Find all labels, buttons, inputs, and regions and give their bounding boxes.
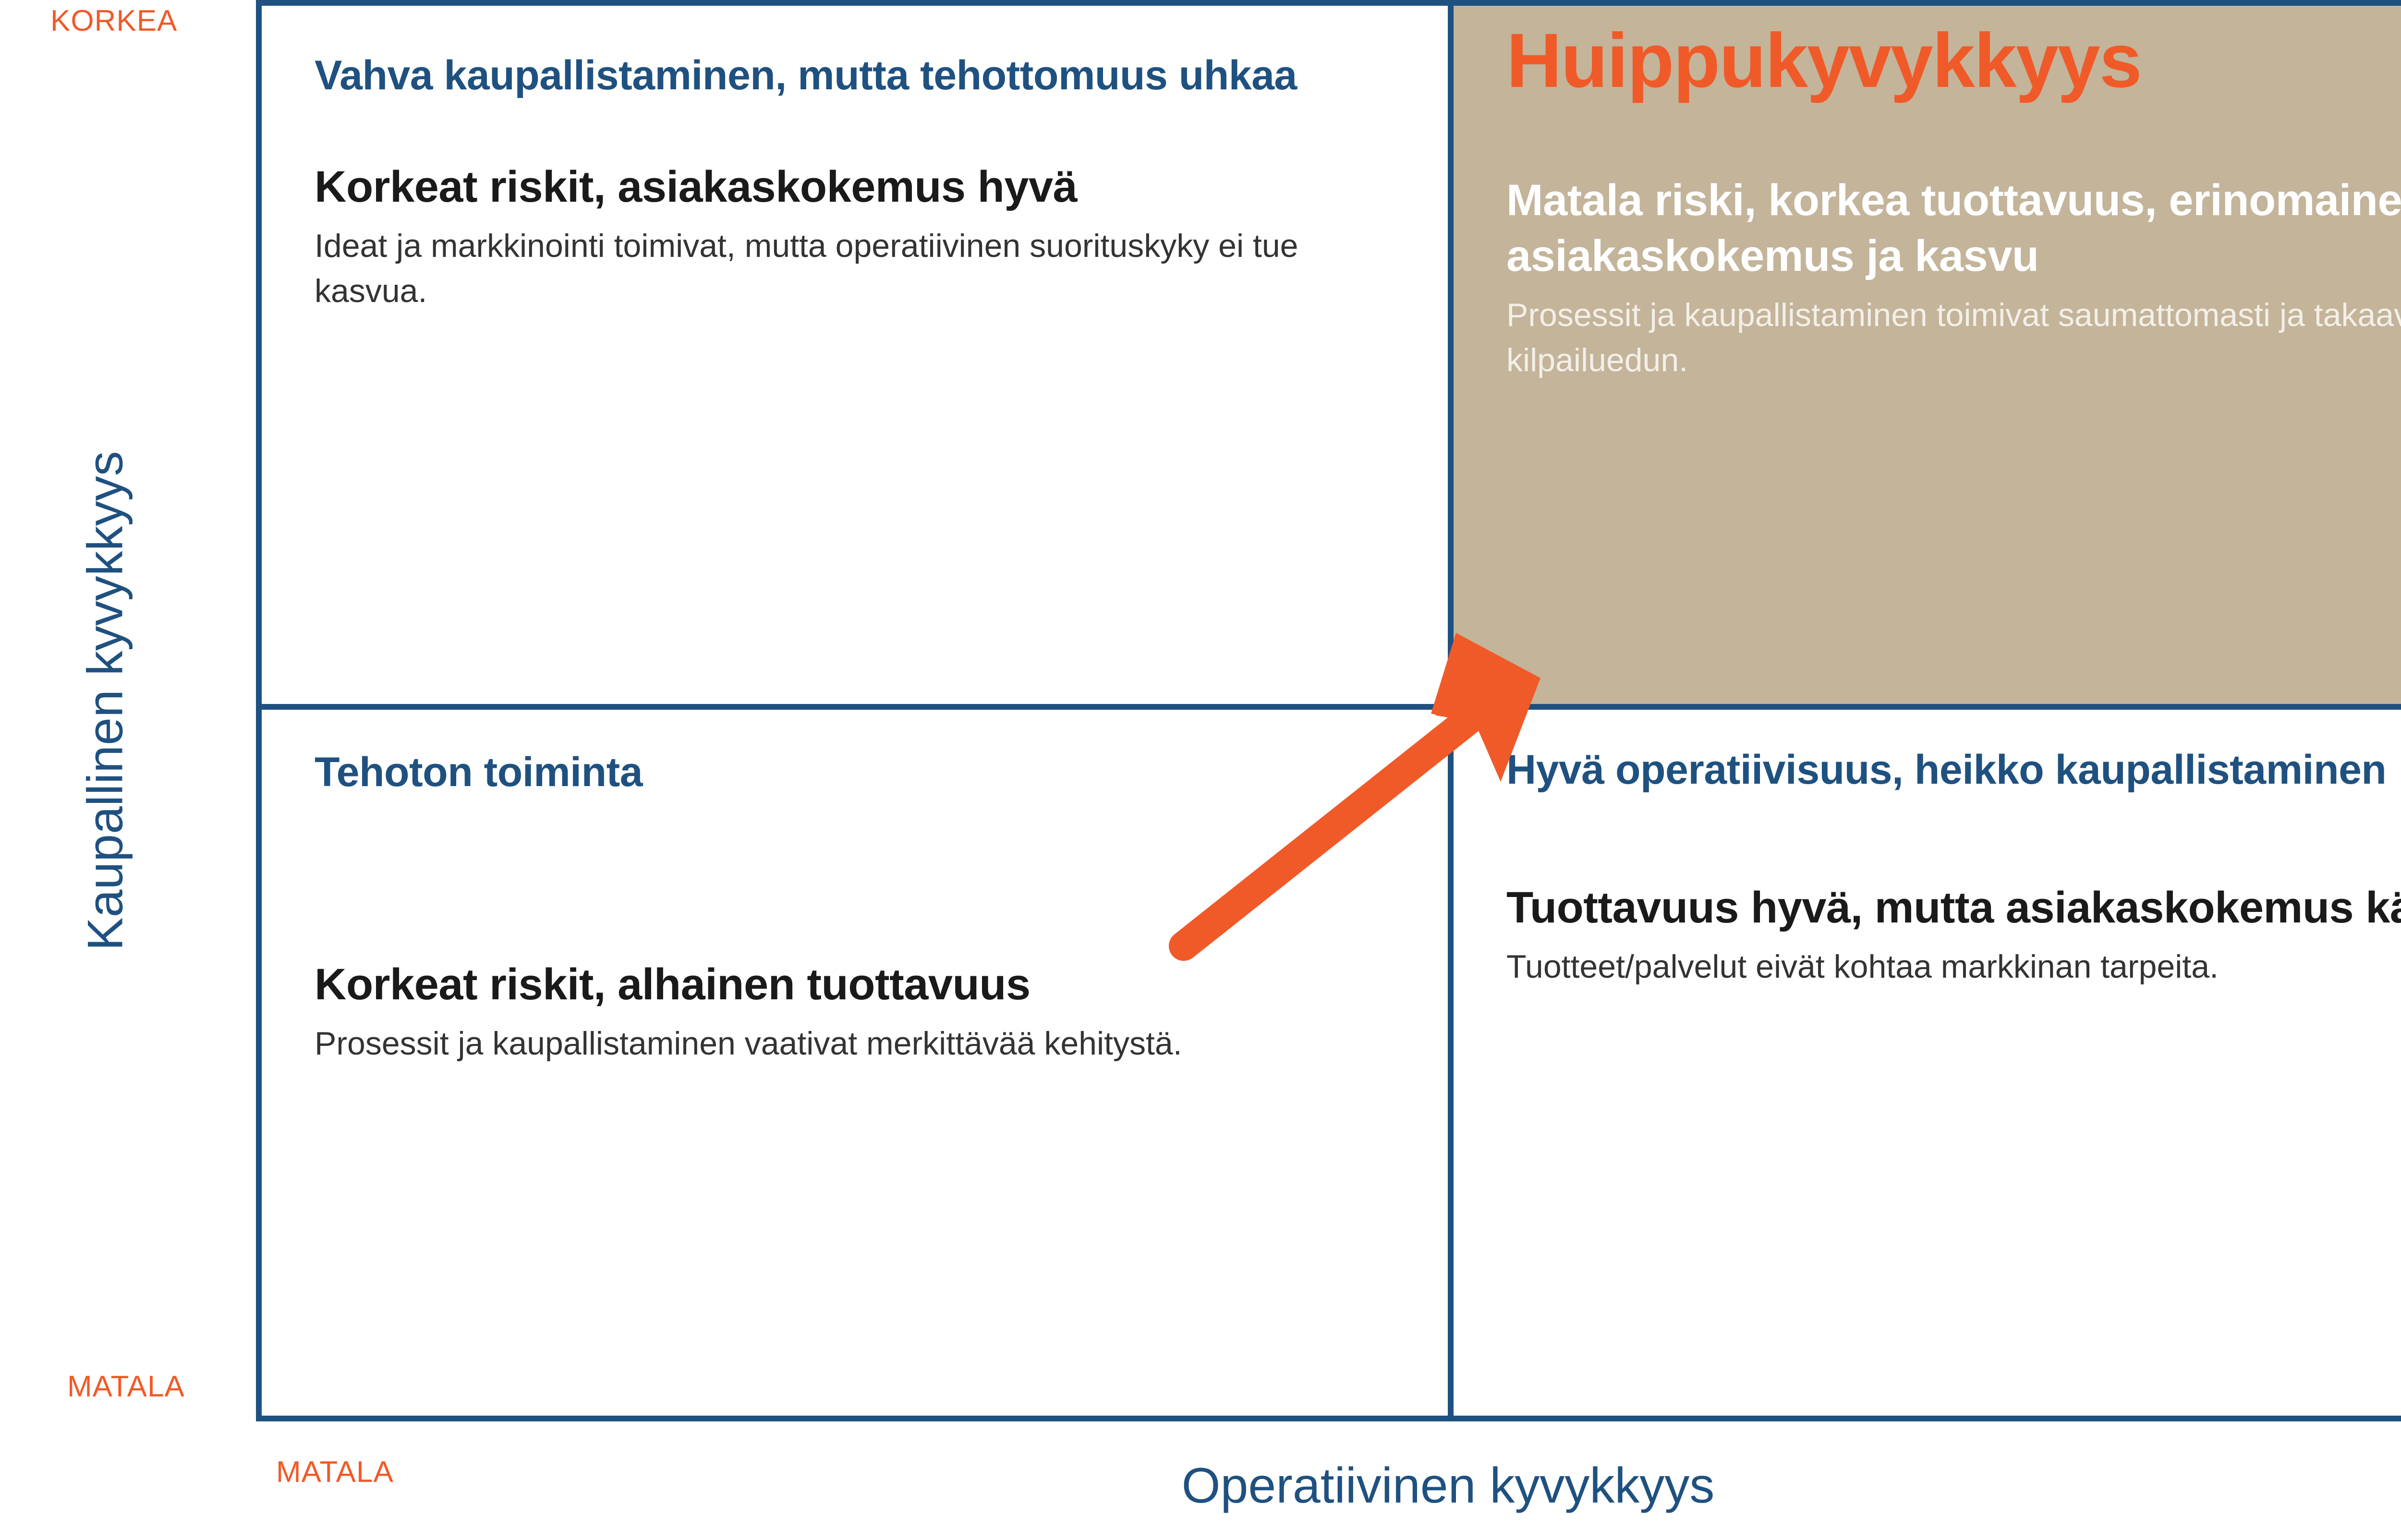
quadrant-top-right-body: Prosessit ja kaupallistaminen toimivat s… xyxy=(1506,293,2401,383)
quadrant-top-left-body: Ideat ja markkinointi toimivat, mutta op… xyxy=(315,224,1405,314)
quadrant-top-left-subheading: Korkeat riskit, asiakaskokemus hyvä xyxy=(315,159,1405,215)
quadrant-top-right: Huippukyvykkyys Matala riski, korkea tuo… xyxy=(1454,6,2401,704)
quadrant-bottom-left-body: Prosessit ja kaupallistaminen vaativat m… xyxy=(315,1021,1405,1067)
quadrant-top-right-title: Huippukyvykkyys xyxy=(1506,20,2401,101)
quadrant-matrix: KORKEA MATALA MATALA KORKEA Kaupallinen … xyxy=(0,0,2401,1540)
quadrant-bottom-left-heading: Tehoton toiminta xyxy=(315,746,1405,799)
x-axis-title: Operatiivinen kyvykkyys xyxy=(0,1457,2401,1515)
y-axis-low-label: MATALA xyxy=(67,1370,185,1404)
quadrant-bottom-right-body: Tuotteet/palvelut eivät kohtaa markkinan… xyxy=(1506,945,2401,990)
matrix-divider-horizontal xyxy=(256,704,2401,710)
quadrant-top-right-subheading: Matala riski, korkea tuottavuus, erinoma… xyxy=(1506,173,2401,284)
quadrant-top-left-heading: Vahva kaupallistaminen, mutta tehottomuu… xyxy=(315,49,1405,102)
matrix-divider-vertical xyxy=(1448,0,1454,1421)
y-axis-high-label: KORKEA xyxy=(50,4,177,38)
quadrant-bottom-right-subheading: Tuottavuus hyvä, mutta asiakaskokemus kä… xyxy=(1506,880,2401,936)
quadrant-bottom-left: Tehoton toiminta Korkeat riskit, alhaine… xyxy=(262,710,1448,1416)
quadrant-bottom-right: Hyvä operatiivisuus, heikko kaupallistam… xyxy=(1454,710,2401,1416)
quadrant-top-left: Vahva kaupallistaminen, mutta tehottomuu… xyxy=(262,6,1448,704)
quadrant-bottom-right-heading: Hyvä operatiivisuus, heikko kaupallistam… xyxy=(1506,743,2401,796)
y-axis-title: Kaupallinen kyvykkyys xyxy=(77,317,134,1085)
quadrant-bottom-left-subheading: Korkeat riskit, alhainen tuottavuus xyxy=(315,957,1405,1013)
